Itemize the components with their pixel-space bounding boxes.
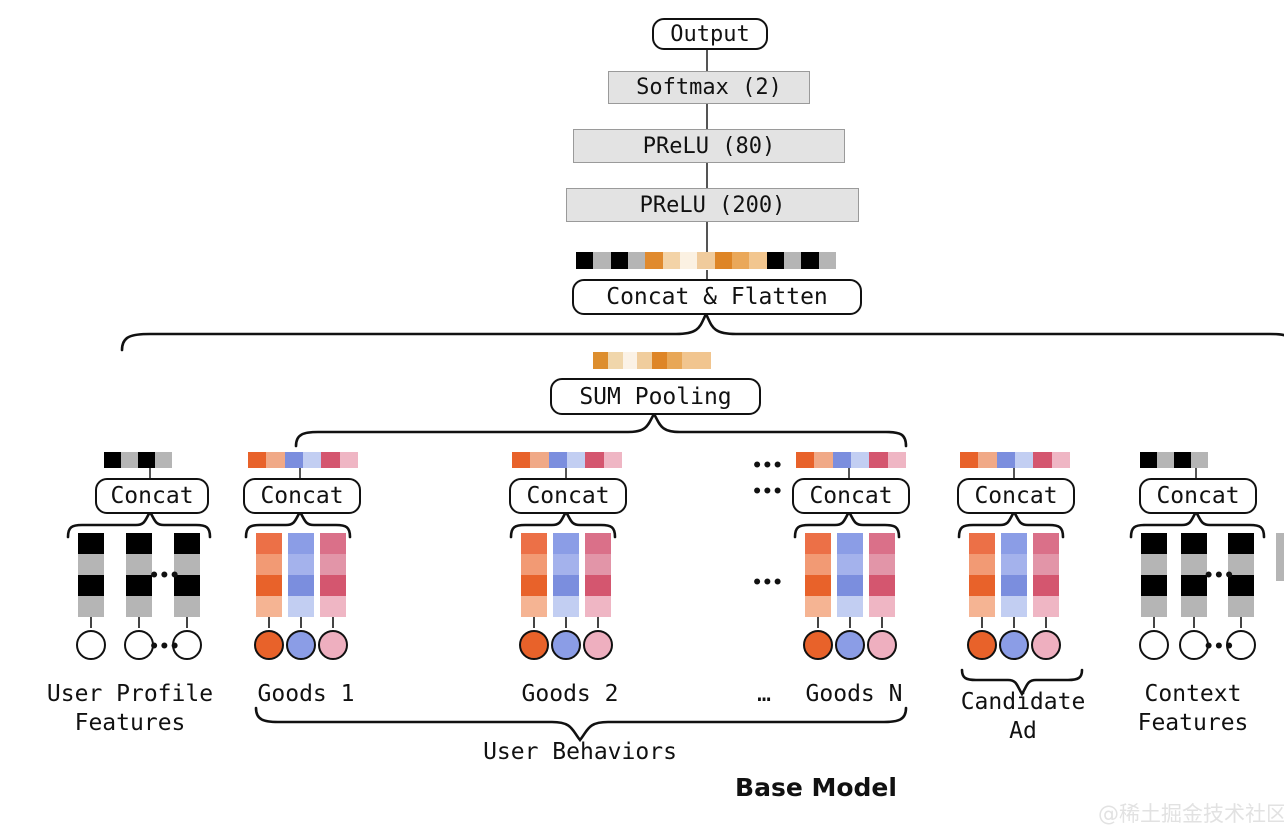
node-concat-goods-1[interactable]: Concat [243, 478, 361, 514]
strip-cell [1033, 452, 1051, 468]
input-feature-node[interactable] [999, 630, 1029, 660]
node-concat-user-profile[interactable]: Concat [95, 478, 209, 514]
node-concat-goods-n[interactable]: Concat [792, 478, 910, 514]
vector-cell [1033, 596, 1059, 617]
strip-cell [796, 452, 814, 468]
strip-cell [645, 252, 662, 269]
vector-cell [78, 575, 104, 596]
vector-cell [320, 554, 346, 575]
node-sum-pooling[interactable]: SUM Pooling [550, 378, 761, 415]
strip-cell [121, 452, 138, 468]
node-concat-goods-2[interactable]: Concat [509, 478, 627, 514]
line-softmax-prelu80 [706, 100, 708, 130]
node-prelu-200[interactable]: PReLU (200) [566, 188, 859, 222]
ellipsis-dots-vectors: ••• [1204, 566, 1235, 586]
strip-cell [1140, 452, 1157, 468]
concat-output-strip [796, 452, 906, 468]
node-concat-flatten[interactable]: Concat & Flatten [572, 279, 862, 315]
ellipsis-dots-behaviors: ••• [752, 456, 783, 476]
strip-cell [715, 252, 732, 269]
strip-cell [1015, 452, 1033, 468]
label-goods-ellipsis: … [744, 680, 784, 709]
strip-cell [801, 252, 818, 269]
strip-cell [960, 452, 978, 468]
vector-cell [521, 554, 547, 575]
strip-cell [697, 252, 714, 269]
concat-output-strip [104, 452, 172, 468]
strip-cell [663, 252, 680, 269]
strip-cell [814, 452, 832, 468]
ellipsis-dots-behaviors: ••• [752, 573, 783, 593]
vector-cell [837, 575, 863, 596]
strip-cell [888, 452, 906, 468]
vector-cell [256, 596, 282, 617]
strip-cell [682, 352, 697, 369]
vector-cell [256, 554, 282, 575]
label-context-features: Context Features [1110, 680, 1276, 739]
vector-cell [969, 596, 995, 617]
strip-cell [637, 352, 652, 369]
strip-cell [530, 452, 548, 468]
vector-cell [1141, 554, 1167, 575]
strip-cell [667, 352, 682, 369]
strip-cell [593, 352, 608, 369]
vector-cell [585, 575, 611, 596]
pooling-embedding-strip [593, 352, 711, 369]
vector-cell [837, 596, 863, 617]
vector-cell [288, 554, 314, 575]
strip-cell [321, 452, 339, 468]
vector-cell [78, 554, 104, 575]
strip-cell [576, 252, 593, 269]
node-output[interactable]: Output [652, 18, 768, 50]
input-feature-node[interactable] [583, 630, 613, 660]
node-concat-candidate-ad[interactable]: Concat [957, 478, 1075, 514]
strip-cell [611, 252, 628, 269]
strip-cell [512, 452, 530, 468]
vector-cell [1001, 554, 1027, 575]
input-feature-node[interactable] [1031, 630, 1061, 660]
input-feature-node[interactable] [551, 630, 581, 660]
strip-cell [604, 452, 622, 468]
embedding-vector [969, 533, 995, 617]
strip-cell [628, 252, 645, 269]
embedding-vector [585, 533, 611, 617]
strip-cell [680, 252, 697, 269]
vector-cell [1001, 596, 1027, 617]
strip-cell [767, 252, 784, 269]
strip-cell [869, 452, 887, 468]
vector-cell [1141, 596, 1167, 617]
vector-cell [174, 596, 200, 617]
vector-cell [1228, 596, 1254, 617]
strip-cell [340, 452, 358, 468]
embedding-vector [1001, 533, 1027, 617]
concat-input-brace [0, 511, 1284, 537]
strip-cell [851, 452, 869, 468]
label-goods-2: Goods 2 [500, 680, 640, 709]
vector-cell [805, 554, 831, 575]
embedding-vector [553, 533, 579, 617]
strip-cell [819, 252, 836, 269]
input-feature-node[interactable] [967, 630, 997, 660]
vector-cell [969, 575, 995, 596]
sum-pooling-brace [0, 412, 1284, 446]
ellipsis-dots-behaviors: ••• [752, 482, 783, 502]
embedding-vector [805, 533, 831, 617]
strip-cell [104, 452, 121, 468]
flatten-embedding-strip [576, 252, 836, 269]
embedding-vector [1033, 533, 1059, 617]
vector-cell [320, 575, 346, 596]
line-prelu80-prelu200 [706, 159, 708, 189]
label-user-behaviors: User Behaviors [440, 738, 720, 767]
watermark: @稀土掘金技术社区 [1098, 798, 1284, 828]
embedding-vector [320, 533, 346, 617]
vector-cell [805, 575, 831, 596]
label-candidate-ad: Candidate Ad [950, 688, 1096, 747]
strip-cell [1191, 452, 1208, 468]
label-goods-n: Goods N [784, 680, 924, 709]
vector-cell [521, 575, 547, 596]
vector-cell [553, 575, 579, 596]
diagram-canvas: Output Softmax (2) PReLU (80) PReLU (200… [0, 0, 1284, 832]
vector-cell [78, 596, 104, 617]
input-feature-node[interactable] [254, 630, 284, 660]
input-feature-node[interactable] [803, 630, 833, 660]
concat-output-strip [1140, 452, 1208, 468]
strip-cell [978, 452, 996, 468]
strip-cell [652, 352, 667, 369]
strip-cell [696, 352, 711, 369]
concat-output-strip [248, 452, 358, 468]
embedding-vector [256, 533, 282, 617]
vector-cell [1001, 575, 1027, 596]
input-feature-node[interactable] [519, 630, 549, 660]
vector-cell [585, 554, 611, 575]
strip-cell [266, 452, 284, 468]
concat-output-strip [512, 452, 622, 468]
strip-cell [608, 352, 623, 369]
input-feature-node[interactable] [286, 630, 316, 660]
concat-output-strip [960, 452, 1070, 468]
label-user-profile-features: User Profile Features [10, 680, 250, 739]
vector-cell [585, 596, 611, 617]
vector-cell [256, 575, 282, 596]
strip-cell [623, 352, 638, 369]
vector-cell [805, 596, 831, 617]
vector-cell [869, 554, 895, 575]
embedding-vector [1141, 533, 1167, 617]
strip-cell [593, 252, 610, 269]
vector-cell [969, 554, 995, 575]
node-softmax[interactable]: Softmax (2) [608, 71, 810, 104]
strip-cell [732, 252, 749, 269]
input-feature-node[interactable] [835, 630, 865, 660]
vector-cell [320, 596, 346, 617]
vector-cell [1033, 554, 1059, 575]
ellipsis-dots-vectors: ••• [149, 566, 180, 586]
strip-cell [1174, 452, 1191, 468]
vector-cell [837, 554, 863, 575]
input-feature-node[interactable] [1139, 630, 1169, 660]
strip-cell [1052, 452, 1070, 468]
diagram-title: Base Model [696, 772, 936, 804]
vector-cell [1033, 575, 1059, 596]
vector-cell [553, 554, 579, 575]
vector-cell [1141, 575, 1167, 596]
strip-cell [549, 452, 567, 468]
vector-cell [288, 575, 314, 596]
embedding-vector [521, 533, 547, 617]
strip-cell [997, 452, 1015, 468]
ellipsis-dots-nodes: ••• [149, 637, 180, 657]
embedding-vector [288, 533, 314, 617]
label-goods-1: Goods 1 [236, 680, 376, 709]
vector-cell [1181, 596, 1207, 617]
strip-cell [1157, 452, 1174, 468]
vector-cell [288, 596, 314, 617]
strip-cell [784, 252, 801, 269]
input-feature-node[interactable] [76, 630, 106, 660]
vector-cell [126, 596, 152, 617]
strip-cell [155, 452, 172, 468]
input-feature-node[interactable] [867, 630, 897, 660]
vector-cell [521, 596, 547, 617]
strip-cell [833, 452, 851, 468]
strip-cell [567, 452, 585, 468]
vector-cell [553, 596, 579, 617]
node-prelu-80[interactable]: PReLU (80) [573, 129, 845, 163]
strip-cell [303, 452, 321, 468]
vector-cell [869, 596, 895, 617]
embedding-vector [869, 533, 895, 617]
vector-cell [869, 575, 895, 596]
strip-cell [285, 452, 303, 468]
embedding-vector [78, 533, 104, 617]
input-feature-node[interactable] [318, 630, 348, 660]
strip-cell [749, 252, 766, 269]
strip-cell [138, 452, 155, 468]
cut-off-column-edge [1276, 533, 1284, 581]
strip-cell [248, 452, 266, 468]
ellipsis-dots-nodes: ••• [1204, 637, 1235, 657]
top-brace [0, 312, 1284, 350]
node-concat-context[interactable]: Concat [1139, 478, 1257, 514]
embedding-vector [837, 533, 863, 617]
strip-cell [585, 452, 603, 468]
